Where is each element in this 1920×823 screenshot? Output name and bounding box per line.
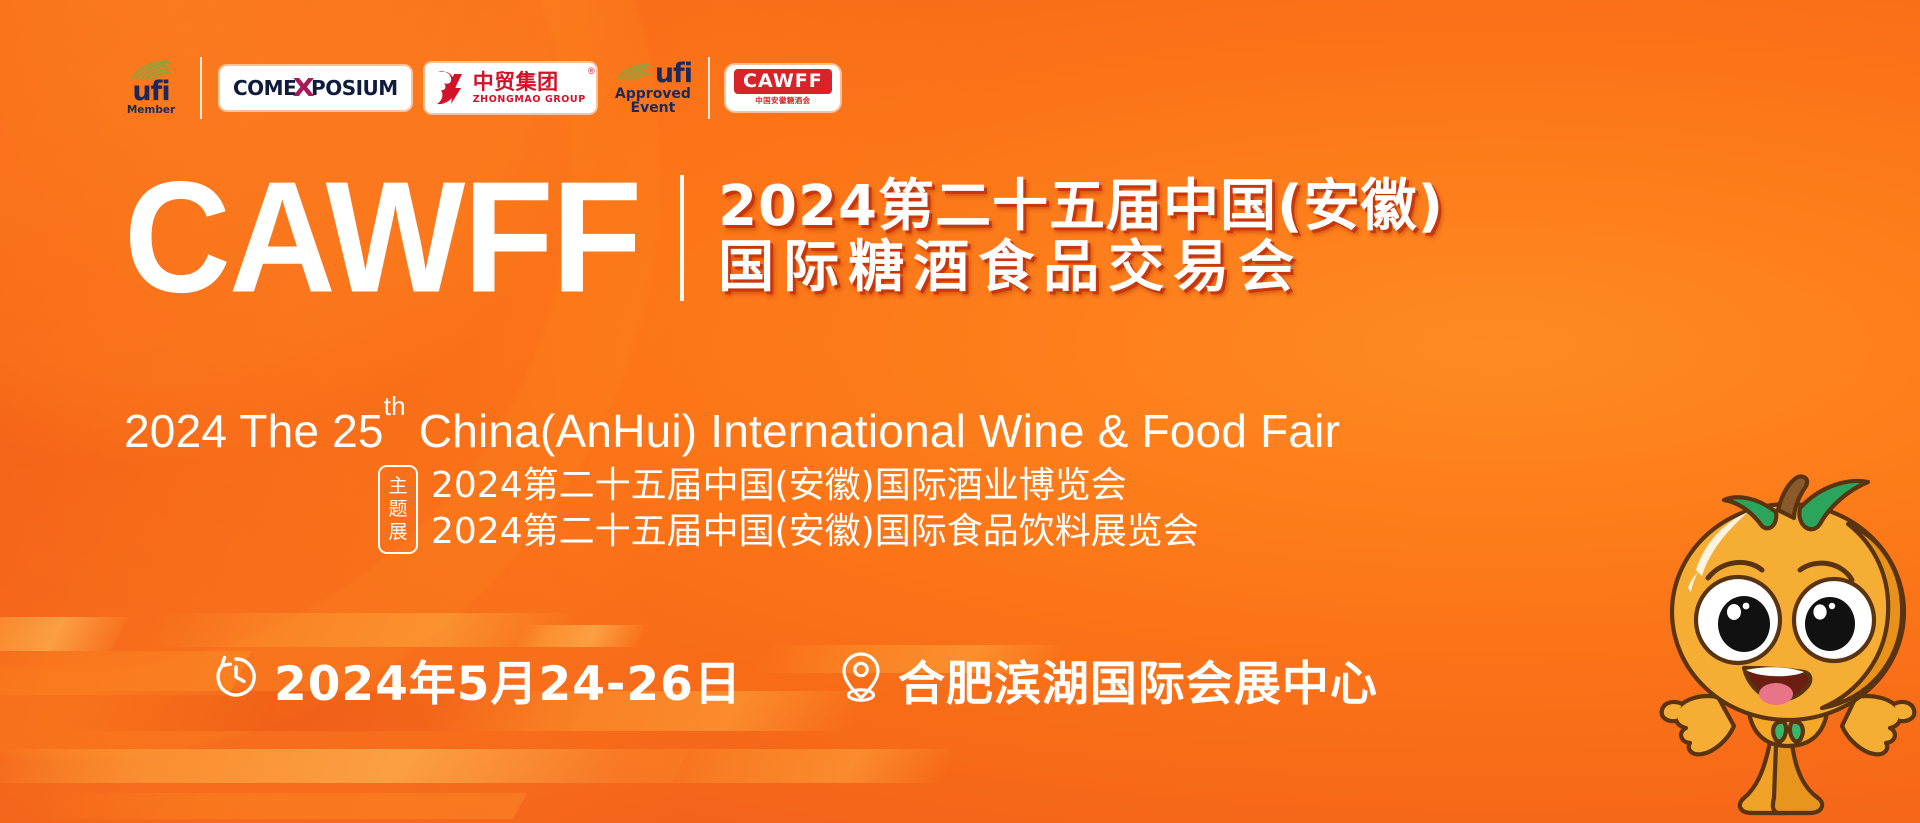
ufi-wing-icon [128, 59, 174, 81]
page-subtitle-english: 2024 The 25th China(AnHui) International… [124, 404, 1340, 458]
logo-ufi-member[interactable]: ufi Member [120, 59, 182, 116]
zhongmao-en-name: ZHONGMAO GROUP [473, 94, 586, 105]
ufi-approved-top: ufi [614, 62, 692, 87]
event-date-text: 2024年5月24-26日 [274, 645, 742, 714]
event-location-text: 合肥滨湖国际会展中心 [898, 645, 1378, 714]
logo-divider-1 [200, 57, 202, 119]
title-chinese-block: 2024第二十五届中国(安徽) 国际糖酒食品交易会 [718, 178, 1444, 296]
page-title-acronym: CAWFF [124, 163, 640, 312]
orange-fruit-mascot [1652, 472, 1920, 823]
ufi-wordmark: ufi [132, 79, 169, 105]
ufi-approved-line2: Event [631, 101, 676, 115]
registered-trademark-icon: ® [588, 66, 595, 76]
clock-icon [212, 653, 260, 706]
logo-comexposium[interactable]: COMEXPOSIUM [220, 66, 411, 110]
zhongmao-text-block: 中贸集团 ZHONGMAO GROUP ® [473, 71, 586, 105]
cawff-badge-sub-label: 中国安徽糖酒会 [755, 95, 810, 106]
subtitle-ordinal-suffix: th [384, 391, 406, 421]
comexposium-part1: COME [233, 76, 296, 100]
theme-tag-char-3: 展 [388, 522, 407, 543]
title-chinese-line-2: 国际糖酒食品交易会 [718, 239, 1444, 297]
theme-line-item: 2024第二十五届中国(安徽)国际食品饮料展览会 [431, 511, 1199, 553]
comexposium-part2: POSIUM [311, 76, 398, 100]
theme-line-item: 2024第二十五届中国(安徽)国际酒业博览会 [431, 465, 1199, 507]
main-title-row: CAWFF 2024第二十五届中国(安徽) 国际糖酒食品交易会 [124, 168, 1444, 307]
zhongmao-cn-name: 中贸集团 [473, 71, 559, 93]
event-location-item: 合肥滨湖国际会展中心 [838, 645, 1378, 714]
theme-exhibitions-block: 主 题 展 2024第二十五届中国(安徽)国际酒业博览会 2024第二十五届中国… [378, 465, 1199, 554]
ufi-approved-line1: Approved [615, 87, 691, 101]
theme-tag-char-1: 主 [388, 476, 407, 497]
theme-tag-char-2: 题 [388, 499, 407, 520]
theme-tag-vertical-label: 主 题 展 [378, 465, 418, 554]
comexposium-wordmark: COMEXPOSIUM [233, 73, 398, 102]
subtitle-suffix: China(AnHui) International Wine & Food F… [406, 405, 1340, 457]
event-meta-row: 2024年5月24-26日 合肥滨湖国际会展中心 [212, 645, 1378, 714]
ufi-approved-wordmark: ufi [655, 62, 692, 86]
cawff-badge-wordmark: CAWFF [734, 69, 832, 94]
event-banner: ufi Member COMEXPOSIUM 中贸集团 ZHONGMAO GRO… [0, 0, 1920, 823]
subtitle-prefix: 2024 The 25 [124, 405, 384, 457]
logo-zhongmao-group[interactable]: 中贸集团 ZHONGMAO GROUP ® [425, 63, 596, 113]
partner-logo-strip: ufi Member COMEXPOSIUM 中贸集团 ZHONGMAO GRO… [120, 52, 840, 124]
event-date-item: 2024年5月24-26日 [212, 645, 742, 714]
logo-cawff-badge[interactable]: CAWFF 中国安徽糖酒会 [726, 65, 840, 111]
ufi-member-label: Member [127, 105, 175, 117]
title-chinese-line-1: 2024第二十五届中国(安徽) [718, 178, 1444, 236]
logo-ufi-approved-event[interactable]: ufi Approved Event [614, 62, 692, 115]
location-pin-icon [838, 651, 884, 708]
comexposium-x-glyph: X [293, 73, 315, 102]
zhongmao-dragon-mark [431, 68, 467, 108]
theme-line-list: 2024第二十五届中国(安徽)国际酒业博览会 2024第二十五届中国(安徽)国际… [431, 465, 1199, 554]
logo-divider-2 [708, 57, 710, 119]
ufi-wing-icon [614, 62, 654, 87]
title-separator [680, 175, 684, 301]
